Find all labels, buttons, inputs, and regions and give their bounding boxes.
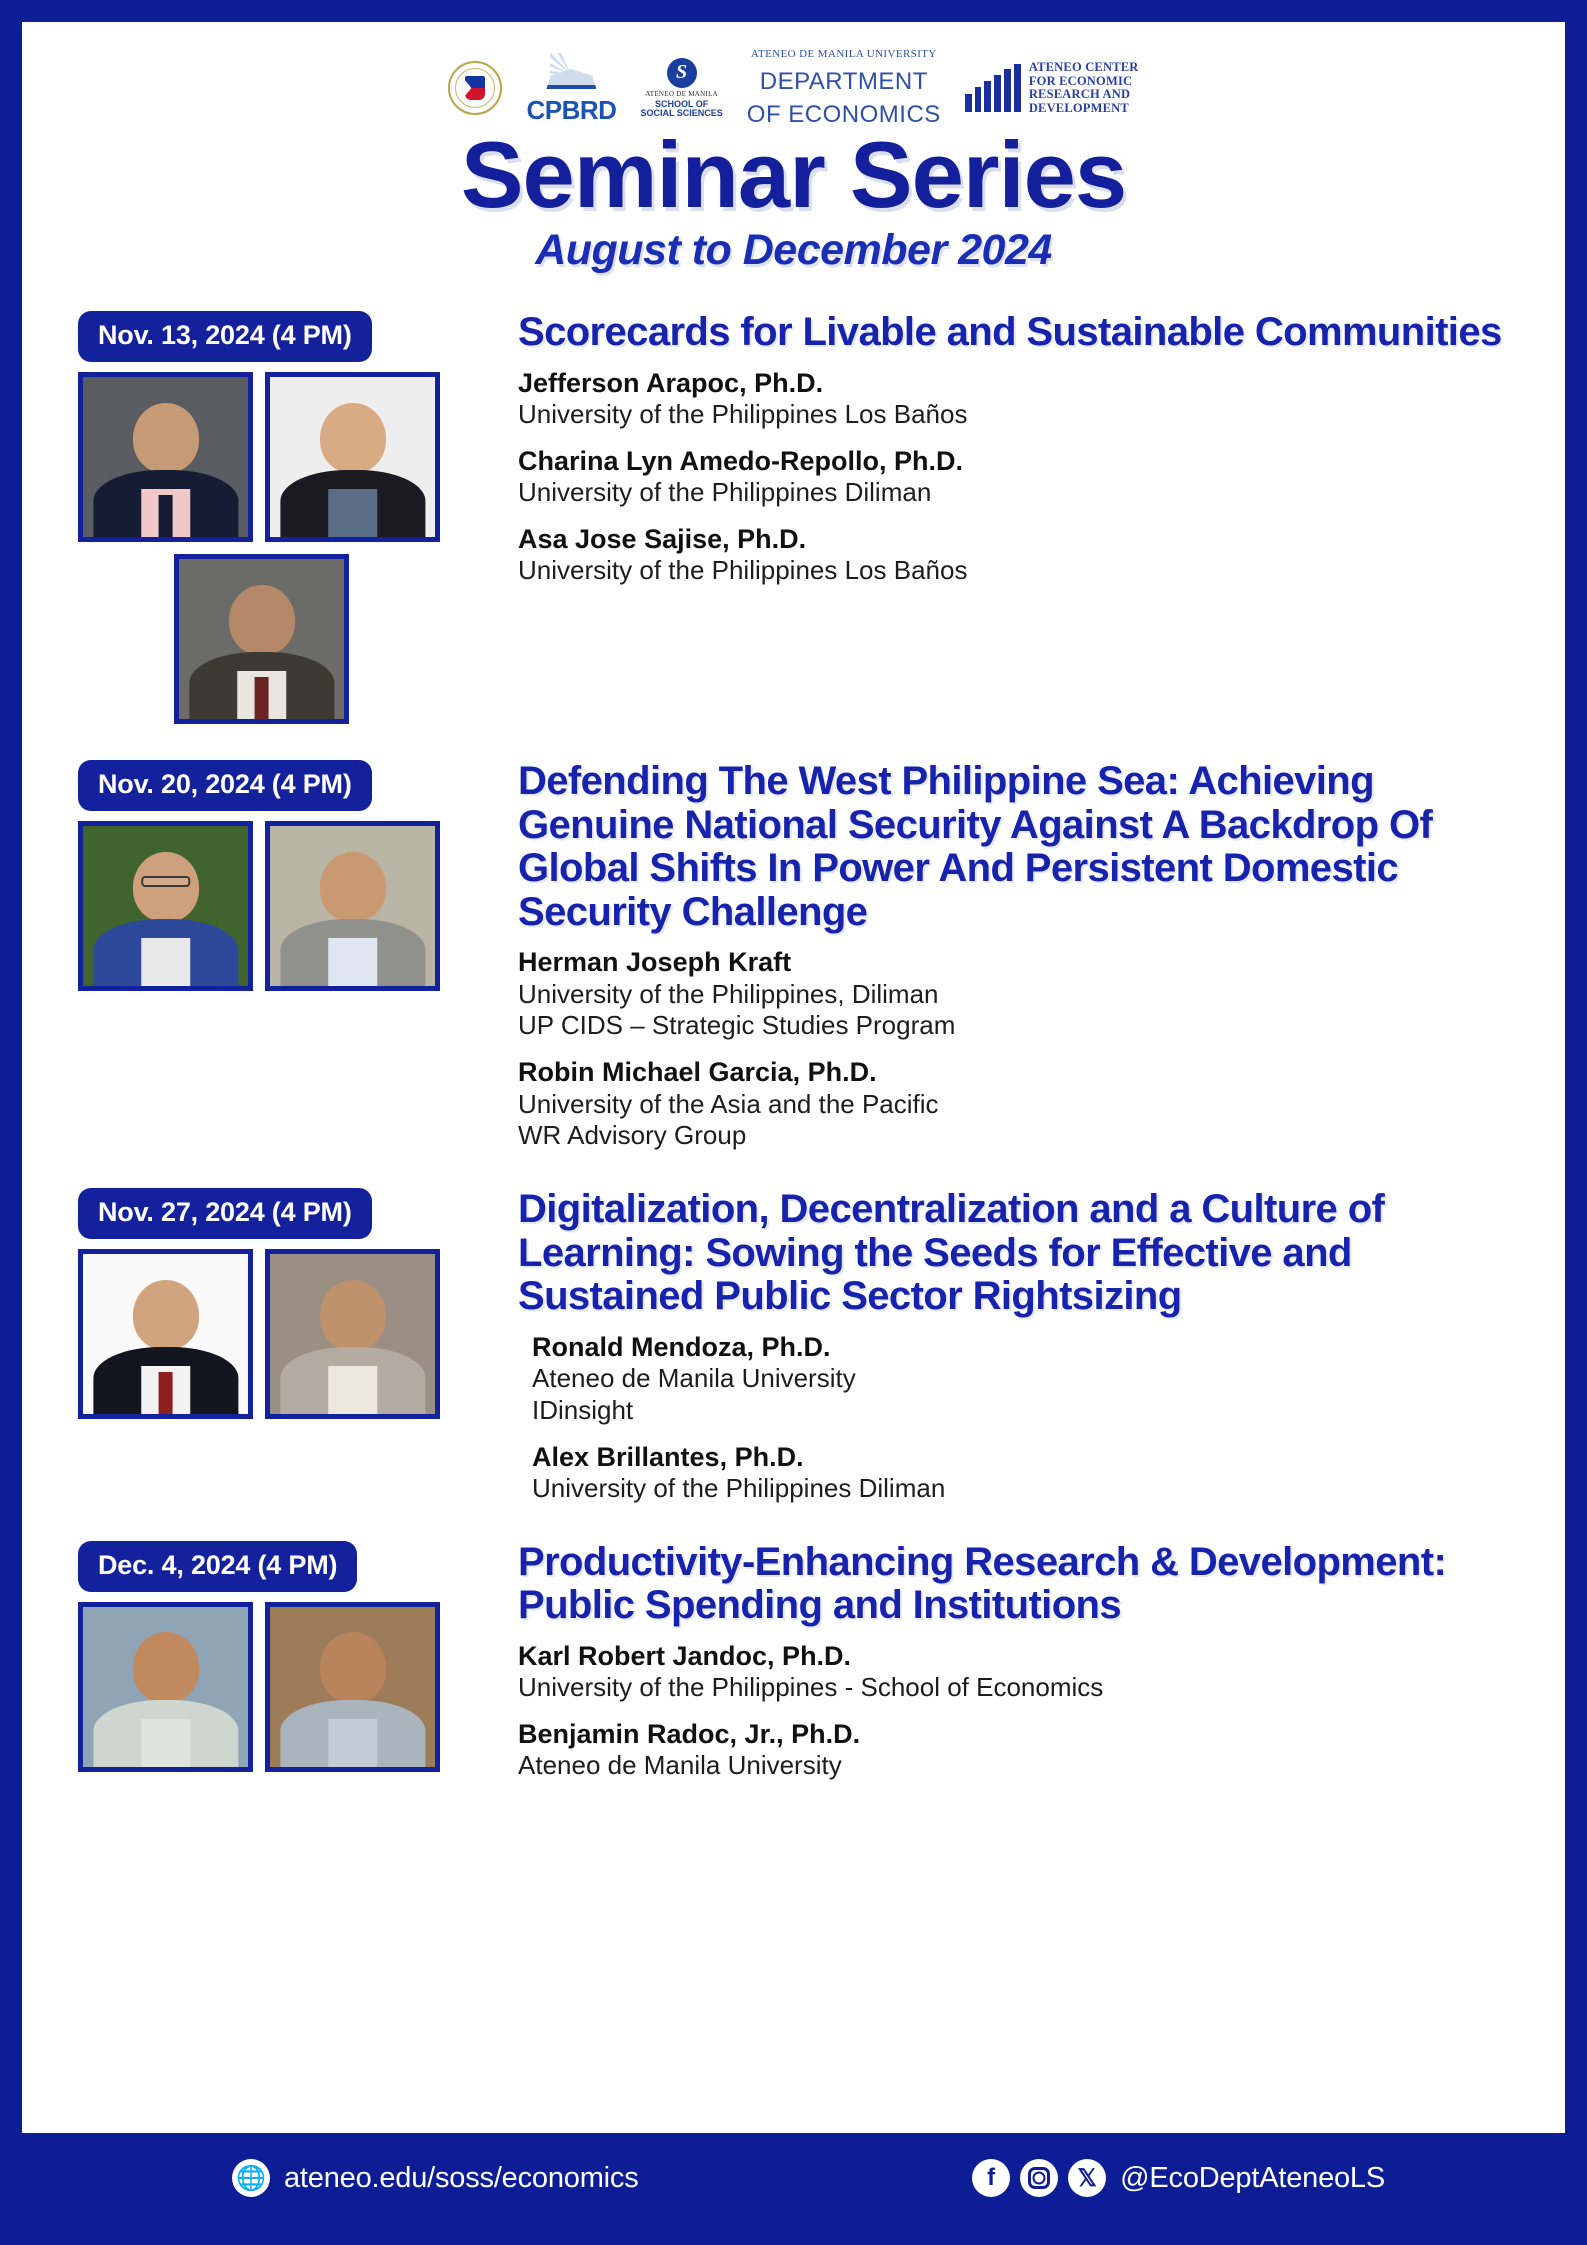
- session-item: Nov. 27, 2024 (4 PM): [78, 1188, 1517, 1505]
- session-left-column: Nov. 13, 2024 (4 PM): [78, 311, 508, 724]
- facebook-icon[interactable]: f: [972, 2159, 1010, 2197]
- session-right-column: Defending The West Philippine Sea: Achie…: [508, 760, 1517, 1152]
- session-topic: Digitalization, Decentralization and a C…: [518, 1188, 1517, 1319]
- session-topic: Defending The West Philippine Sea: Achie…: [518, 760, 1517, 934]
- cpbrd-building-icon: [540, 53, 602, 89]
- ateneo-triskelion-icon: [667, 58, 697, 88]
- speaker-name: Robin Michael Garcia, Ph.D.: [518, 1056, 1517, 1088]
- speaker-entry: Robin Michael Garcia, Ph.D. University o…: [518, 1056, 1517, 1152]
- dept-line1: DEPARTMENT: [760, 69, 928, 94]
- session-item: Dec. 4, 2024 (4 PM): [78, 1541, 1517, 1782]
- department-of-economics-logo: ATENEO DE MANILA UNIVERSITY DEPARTMENT O…: [747, 49, 941, 127]
- speaker-affiliation: University of the Asia and the Pacific W…: [518, 1089, 1517, 1152]
- speaker-photo: [174, 554, 349, 724]
- speaker-photo: [78, 372, 253, 542]
- speaker-name: Karl Robert Jandoc, Ph.D.: [518, 1640, 1517, 1672]
- session-list: Nov. 13, 2024 (4 PM): [22, 311, 1565, 1782]
- soss-line1: ATENEO DE MANILA: [645, 90, 718, 98]
- session-right-column: Productivity-Enhancing Research & Develo…: [508, 1541, 1517, 1782]
- page-subtitle: August to December 2024: [22, 226, 1565, 275]
- cpbrd-logo: CPBRD: [526, 53, 616, 123]
- speaker-affiliation: University of the Philippines - School o…: [518, 1672, 1517, 1704]
- social-group[interactable]: f 𝕏 @EcoDeptAteneoLS: [972, 2159, 1385, 2197]
- speaker-name: Herman Joseph Kraft: [518, 946, 1517, 978]
- house-of-representatives-seal-logo: [448, 61, 502, 115]
- speaker-affiliation: University of the Philippines Diliman: [532, 1473, 1517, 1505]
- soss-line2: SCHOOL OFSOCIAL SCIENCES: [640, 100, 722, 119]
- website-group[interactable]: 🌐 ateneo.edu/soss/economics: [232, 2159, 639, 2197]
- speaker-affiliation: Ateneo de Manila University: [518, 1750, 1517, 1782]
- ateneo-school-of-social-sciences-logo: ATENEO DE MANILA SCHOOL OFSOCIAL SCIENCE…: [640, 58, 722, 119]
- speaker-entry: Karl Robert Jandoc, Ph.D. University of …: [518, 1640, 1517, 1704]
- speaker-entry: Ronald Mendoza, Ph.D. Ateneo de Manila U…: [532, 1331, 1517, 1427]
- website-url: ateneo.edu/soss/economics: [284, 2162, 639, 2195]
- speaker-photo: [78, 821, 253, 991]
- page-title: Seminar Series: [22, 128, 1565, 222]
- acerd-wordmark: ATENEO CENTERFOR ECONOMICRESEARCH ANDDEV…: [1029, 61, 1139, 115]
- speaker-entry: Jefferson Arapoc, Ph.D. University of th…: [518, 367, 1517, 431]
- speaker-name: Alex Brillantes, Ph.D.: [532, 1441, 1517, 1473]
- session-right-column: Digitalization, Decentralization and a C…: [508, 1188, 1517, 1505]
- speaker-photo: [78, 1602, 253, 1772]
- session-date-badge: Nov. 20, 2024 (4 PM): [78, 760, 372, 811]
- speaker-photo: [265, 372, 440, 542]
- session-left-column: Dec. 4, 2024 (4 PM): [78, 1541, 508, 1782]
- speaker-affiliation: University of the Philippines Los Baños: [518, 399, 1517, 431]
- poster-sheet: CPBRD ATENEO DE MANILA SCHOOL OFSOCIAL S…: [22, 22, 1565, 2223]
- speaker-photo-group: [78, 1602, 508, 1772]
- poster-footer: 🌐 ateneo.edu/soss/economics f 𝕏 @EcoDept…: [22, 2133, 1565, 2223]
- house-of-representatives-seal-icon: [448, 61, 502, 115]
- social-handle: @EcoDeptAteneoLS: [1120, 2162, 1385, 2195]
- speaker-affiliation: University of the Philippines Los Baños: [518, 555, 1517, 587]
- speaker-name: Ronald Mendoza, Ph.D.: [532, 1331, 1517, 1363]
- speaker-photo: [265, 1602, 440, 1772]
- speaker-name: Asa Jose Sajise, Ph.D.: [518, 523, 1517, 555]
- speaker-name: Benjamin Radoc, Jr., Ph.D.: [518, 1718, 1517, 1750]
- speaker-photo-group: [78, 1249, 508, 1419]
- speaker-photo: [265, 1249, 440, 1419]
- session-item: Nov. 20, 2024 (4 PM): [78, 760, 1517, 1152]
- seminar-series-poster: CPBRD ATENEO DE MANILA SCHOOL OFSOCIAL S…: [0, 0, 1587, 2245]
- rising-bar-chart-icon: [965, 64, 1021, 112]
- session-topic: Scorecards for Livable and Sustainable C…: [518, 311, 1517, 355]
- session-left-column: Nov. 27, 2024 (4 PM): [78, 1188, 508, 1505]
- speaker-list: Jefferson Arapoc, Ph.D. University of th…: [518, 367, 1517, 587]
- instagram-icon[interactable]: [1020, 2159, 1058, 2197]
- speaker-photo-group: [78, 372, 508, 724]
- speaker-entry: Benjamin Radoc, Jr., Ph.D. Ateneo de Man…: [518, 1718, 1517, 1782]
- speaker-entry: Charina Lyn Amedo-Repollo, Ph.D. Univers…: [518, 445, 1517, 509]
- logo-bar: CPBRD ATENEO DE MANILA SCHOOL OFSOCIAL S…: [22, 22, 1565, 114]
- session-right-column: Scorecards for Livable and Sustainable C…: [508, 311, 1517, 724]
- speaker-affiliation: Ateneo de Manila University IDinsight: [532, 1363, 1517, 1426]
- session-date-badge: Dec. 4, 2024 (4 PM): [78, 1541, 357, 1592]
- speaker-affiliation: University of the Philippines, Diliman U…: [518, 979, 1517, 1042]
- session-item: Nov. 13, 2024 (4 PM): [78, 311, 1517, 724]
- poster-title-block: Seminar Series August to December 2024: [22, 128, 1565, 275]
- speaker-entry: Asa Jose Sajise, Ph.D. University of the…: [518, 523, 1517, 587]
- session-topic: Productivity-Enhancing Research & Develo…: [518, 1541, 1517, 1628]
- speaker-entry: Herman Joseph Kraft University of the Ph…: [518, 946, 1517, 1042]
- speaker-list: Ronald Mendoza, Ph.D. Ateneo de Manila U…: [518, 1331, 1517, 1505]
- speaker-entry: Alex Brillantes, Ph.D. University of the…: [532, 1441, 1517, 1505]
- session-left-column: Nov. 20, 2024 (4 PM): [78, 760, 508, 1152]
- speaker-list: Herman Joseph Kraft University of the Ph…: [518, 946, 1517, 1152]
- dept-university-line: ATENEO DE MANILA UNIVERSITY: [751, 49, 937, 61]
- speaker-name: Jefferson Arapoc, Ph.D.: [518, 367, 1517, 399]
- globe-icon: 🌐: [232, 2159, 270, 2197]
- speaker-photo: [265, 821, 440, 991]
- speaker-affiliation: University of the Philippines Diliman: [518, 477, 1517, 509]
- cpbrd-wordmark: CPBRD: [526, 97, 616, 123]
- speaker-photo: [78, 1249, 253, 1419]
- x-twitter-icon[interactable]: 𝕏: [1068, 2159, 1106, 2197]
- session-date-badge: Nov. 27, 2024 (4 PM): [78, 1188, 372, 1239]
- acerd-logo: ATENEO CENTERFOR ECONOMICRESEARCH ANDDEV…: [965, 61, 1139, 115]
- speaker-list: Karl Robert Jandoc, Ph.D. University of …: [518, 1640, 1517, 1782]
- session-date-badge: Nov. 13, 2024 (4 PM): [78, 311, 372, 362]
- speaker-name: Charina Lyn Amedo-Repollo, Ph.D.: [518, 445, 1517, 477]
- speaker-photo-group: [78, 821, 508, 991]
